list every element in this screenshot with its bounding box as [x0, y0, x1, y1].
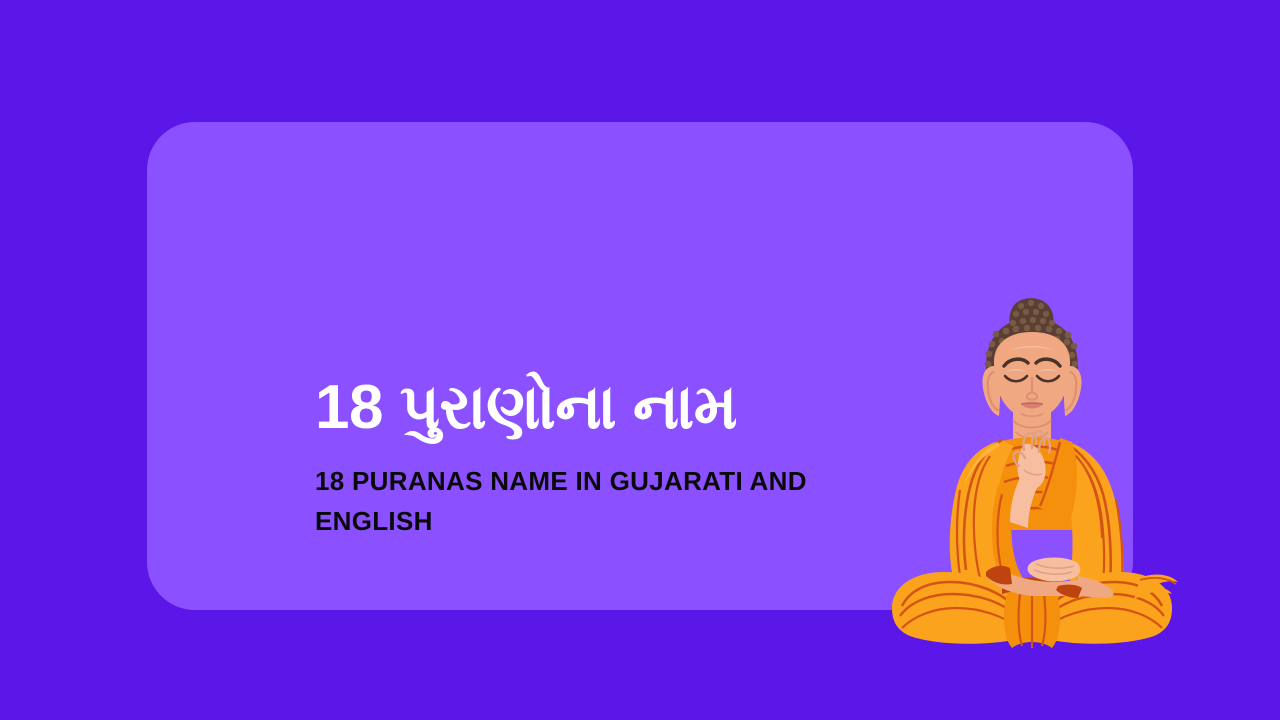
page-title: 18 પુરાણોના નામ	[315, 377, 875, 439]
text-block: 18 પુરાણોના નામ 18 PURANAS NAME IN GUJAR…	[315, 377, 875, 542]
poster-canvas: 18 પુરાણોના નામ 18 PURANAS NAME IN GUJAR…	[0, 0, 1280, 720]
page-subtitle: 18 PURANAS NAME IN GUJARATI AND ENGLISH	[315, 461, 825, 542]
buddha-face	[994, 332, 1070, 418]
seated-buddha-illustration	[882, 290, 1182, 650]
content-card: 18 પુરાણોના નામ 18 PURANAS NAME IN GUJAR…	[147, 122, 1133, 610]
